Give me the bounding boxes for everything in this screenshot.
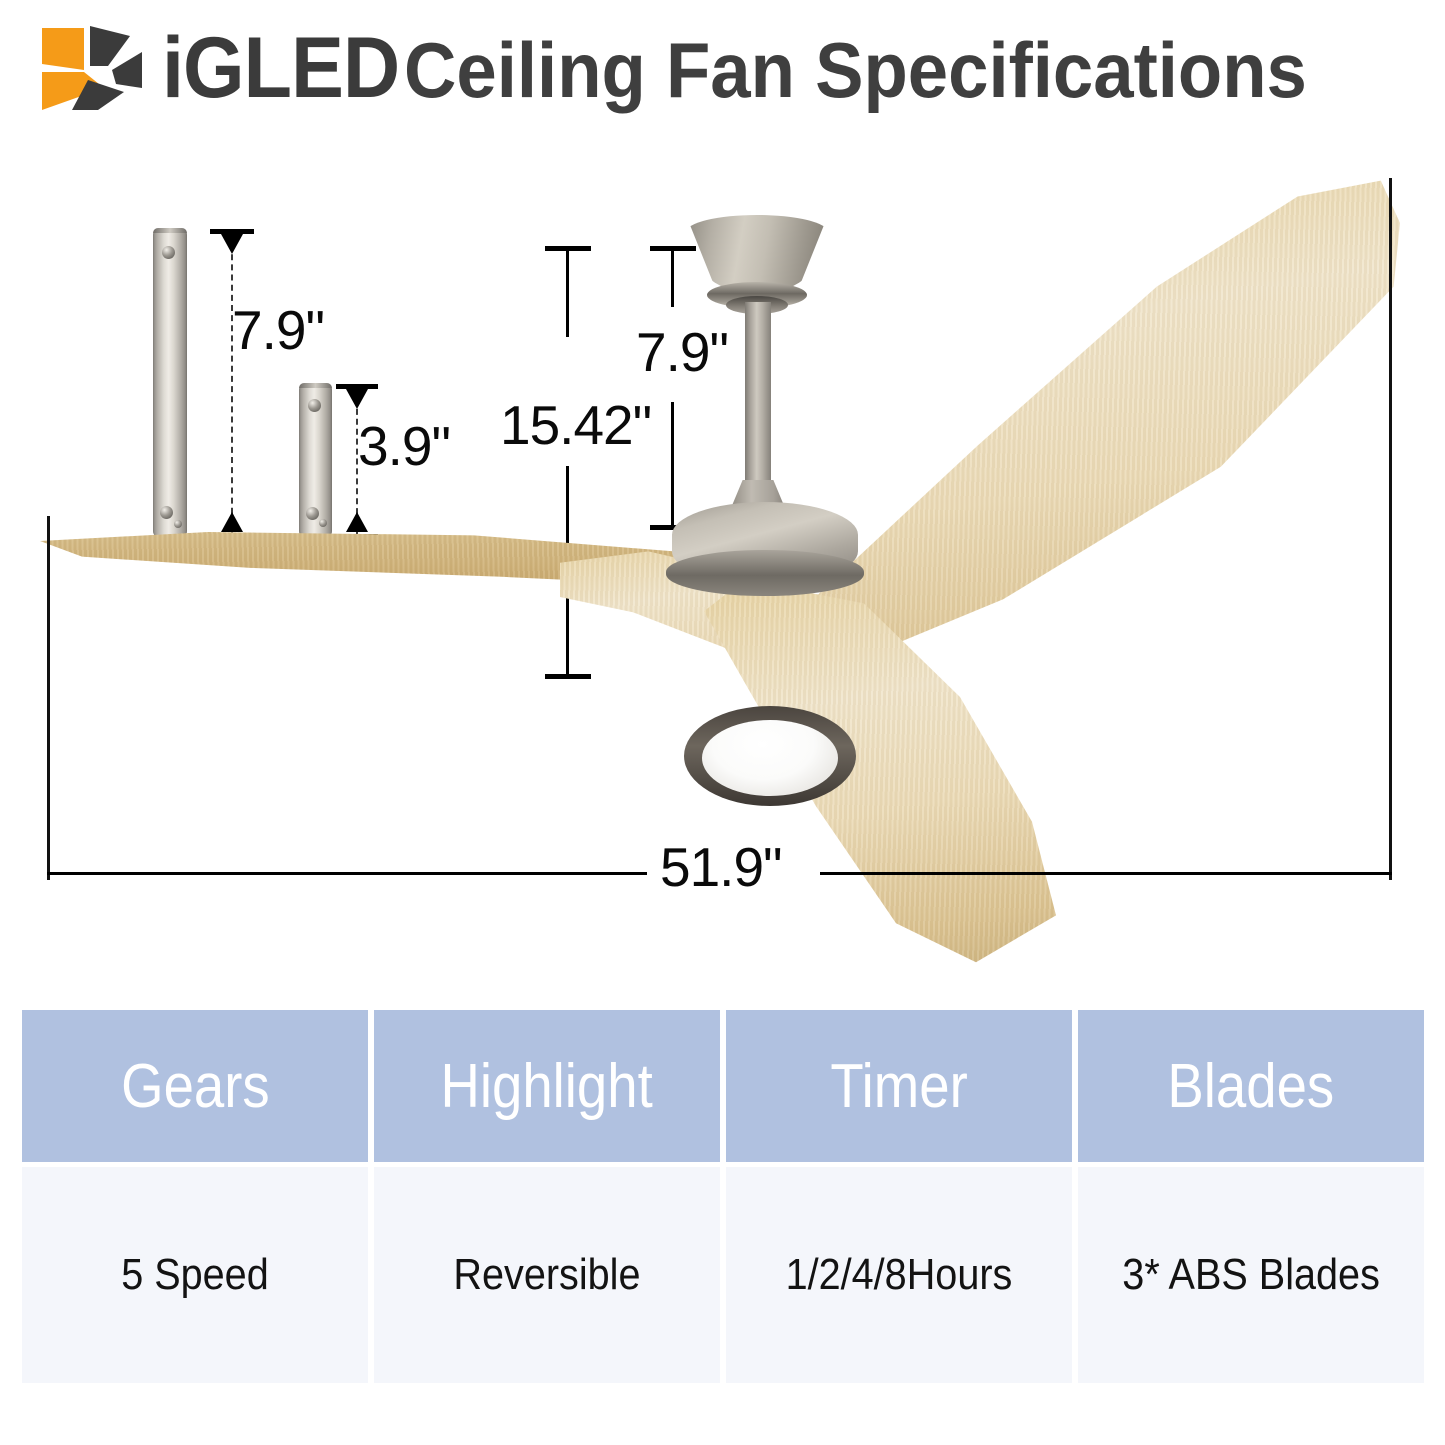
table-header-gears: Gears <box>22 1010 368 1162</box>
blade-span-label: 51.9" <box>660 835 782 899</box>
table-header-timer: Timer <box>726 1010 1072 1162</box>
span-dim-line-right <box>820 872 1392 875</box>
table-header-highlight-label: Highlight <box>441 1051 653 1122</box>
span-dim-line-left <box>47 872 647 875</box>
table-cell-blades: 3* ABS Blades <box>1078 1167 1424 1383</box>
fan-downrod <box>745 302 771 492</box>
span-extension-line-left <box>47 516 50 880</box>
motor-housing-lip <box>666 550 864 596</box>
table-header-blades: Blades <box>1078 1010 1424 1162</box>
table-header-highlight: Highlight <box>374 1010 720 1162</box>
light-kit-lens <box>702 720 838 796</box>
table-cell-timer: 1/2/4/8Hours <box>726 1167 1072 1383</box>
brand-wordmark: iGLED <box>162 20 399 116</box>
table-header-blades-label: Blades <box>1168 1051 1335 1122</box>
table-cell-blades-value: 3* ABS Blades <box>1122 1250 1380 1300</box>
specifications-table: Gears Highlight Timer Blades 5 Speed Rev… <box>22 1010 1424 1383</box>
igled-logo-icon <box>38 22 160 114</box>
span-extension-line-right <box>1389 178 1392 880</box>
table-cell-highlight-value: Reversible <box>453 1250 640 1300</box>
product-dimension-diagram: 7.9" 3.9" 15.42" 7.9" <box>0 150 1445 980</box>
page-header: iGLED Ceiling Fan Specifications <box>0 0 1445 150</box>
table-cell-timer-value: 1/2/4/8Hours <box>786 1250 1013 1300</box>
table-cell-highlight: Reversible <box>374 1167 720 1383</box>
page-title: Ceiling Fan Specifications <box>404 20 1307 120</box>
table-cell-gears-value: 5 Speed <box>121 1250 269 1300</box>
table-header-row: Gears Highlight Timer Blades <box>22 1010 1424 1162</box>
table-cell-gears: 5 Speed <box>22 1167 368 1383</box>
table-header-gears-label: Gears <box>121 1051 270 1122</box>
table-header-timer-label: Timer <box>830 1051 967 1122</box>
table-value-row: 5 Speed Reversible 1/2/4/8Hours 3* ABS B… <box>22 1167 1424 1383</box>
